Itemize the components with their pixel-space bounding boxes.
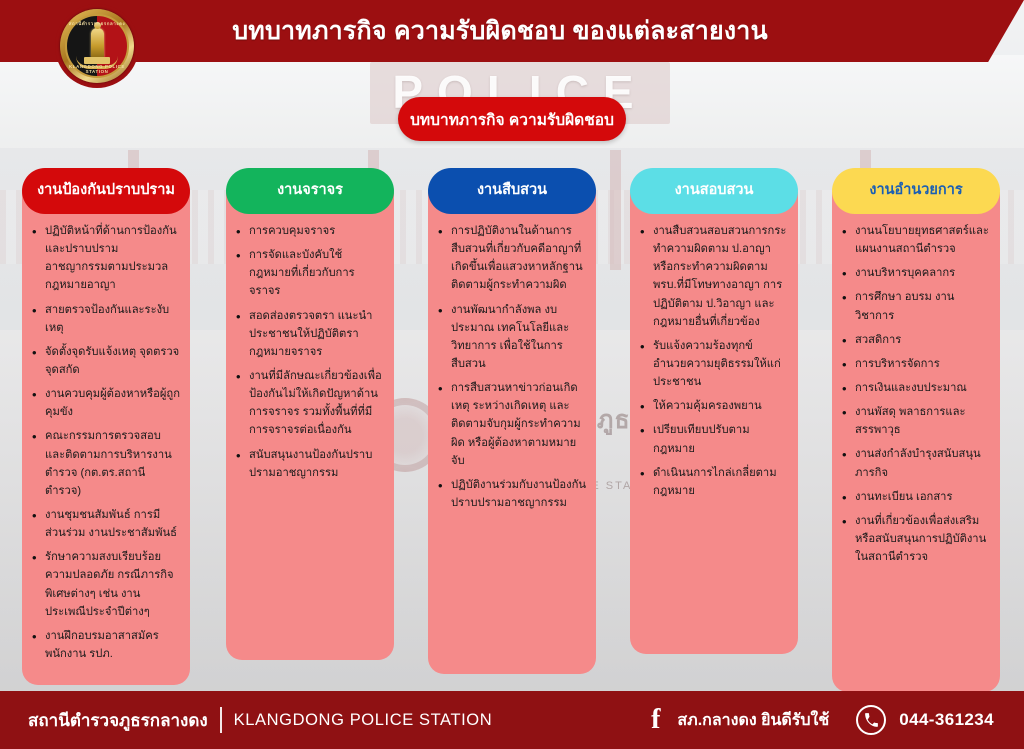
badge-statue-icon [91,28,104,58]
column-header-inquiry: งานสอบสวน [630,168,798,214]
list-item: งานพัฒนากำลังพล งบประมาณ เทคโนโลยีและวิท… [436,301,586,374]
list-item: งานนโยบายยุทธศาสตร์และแผนงานสถานีตำรวจ [840,222,990,258]
list-item: งานชุมชนสัมพันธ์ การมีส่วนร่วม งานประชาส… [30,506,180,542]
list-item: เปรียบเทียบปรับตามกฎหมาย [638,421,788,457]
list-item: การจัดและบังคับใช้กฎหมายที่เกี่ยวกับการจ… [234,246,384,300]
list-item: คณะกรรมการตรวจสอบและติดตามการบริหารงานตำ… [30,427,180,500]
list-item: สายตรวจป้องกันและระงับเหตุ [30,301,180,337]
list-item: สวสดิการ [840,331,990,349]
center-pill-label: บทบาทภารกิจ ความรับผิดชอบ [398,97,626,141]
facebook-icon[interactable]: f [647,706,664,734]
list-item: งานฝึกอบรมอาสาสมัคร พนักงาน รปภ. [30,627,180,663]
footer-left-group: สถานีตำรวจภูธรกลางดง KLANGDONG POLICE ST… [28,707,492,734]
list-item: ปฏิบัติงานร่วมกับงานป้องกันปราบปรามอาชญา… [436,476,586,512]
column-header-administration: งานอำนวยการ [832,168,1000,214]
list-item: การปฏิบัติงานในด้านการสืบสวนที่เกี่ยวกับ… [436,222,586,295]
list-item: รับแจ้งความร้องทุกข์ อำนวยความยุติธรรมให… [638,337,788,391]
list-item: งานควบคุมผู้ต้องหาหรือผู้ถูกคุมขัง [30,385,180,421]
page-title: บทบาทภารกิจ ความรับผิดชอบ ของแต่ละสายงาน [0,0,1000,62]
column-list-administration: งานนโยบายยุทธศาสตร์และแผนงานสถานีตำรวจ ง… [840,222,990,566]
column-prevention: งานป้องกันปราบปราม ปฏิบัติหน้าที่ด้านการ… [22,168,190,685]
list-item: การเงินและงบประมาณ [840,379,990,397]
footer-phone-number[interactable]: 044-361234 [899,710,994,730]
column-body-inquiry: งานสืบสวนสอบสวนการกระทำความผิดตาม ป.อาญา… [630,192,798,654]
footer-right-group: f สภ.กลางดง ยินดีรับใช้ 044-361234 [647,705,994,735]
footer-bar: สถานีตำรวจภูธรกลางดง KLANGDONG POLICE ST… [0,691,1024,749]
list-item: ดำเนินนการไกล่เกลี่ยตามกฎหมาย [638,464,788,500]
column-investigation: งานสืบสวน การปฏิบัติงานในด้านการสืบสวนที… [428,168,596,674]
column-body-traffic: การควบคุมจราจร การจัดและบังคับใช้กฎหมายท… [226,192,394,660]
column-body-investigation: การปฏิบัติงานในด้านการสืบสวนที่เกี่ยวกับ… [428,192,596,674]
list-item: งานทะเบียน เอกสาร [840,488,990,506]
column-header-traffic: งานจราจร [226,168,394,214]
list-item: รักษาความสงบเรียบร้อยความปลอดภัย กรณีภาร… [30,548,180,621]
column-header-prevention: งานป้องกันปราบปราม [22,168,190,214]
footer-station-name-th: สถานีตำรวจภูธรกลางดง [28,707,208,734]
badge-bottom-text: KLANGDONG POLICE STATION [67,64,127,74]
footer-divider [220,707,222,733]
list-item: ปฏิบัติหน้าที่ด้านการป้องกันและปราบปรามอ… [30,222,180,295]
list-item: ให้ความคุ้มครองพยาน [638,397,788,415]
footer-facebook-label[interactable]: สภ.กลางดง ยินดีรับใช้ [677,708,829,733]
column-traffic: งานจราจร การควบคุมจราจร การจัดและบังคับใ… [226,168,394,660]
list-item: งานบริหารบุคคลากร [840,264,990,282]
list-item: งานพัสดุ พลาธการและสรรพาวุธ [840,403,990,439]
column-list-traffic: การควบคุมจราจร การจัดและบังคับใช้กฎหมายท… [234,222,384,482]
column-body-prevention: ปฏิบัติหน้าที่ด้านการป้องกันและปราบปรามอ… [22,192,190,685]
list-item: สอดส่องตรวจตรา แนะนำประชาชนให้ปฏิบัติตรา… [234,307,384,361]
badge-outer-ring: สถานีตำรวจภูธรกลางดง KLANGDONG POLICE ST… [60,9,134,83]
list-item: งานส่งกำลังบำรุงสนับสนุนภารกิจ [840,445,990,481]
column-list-investigation: การปฏิบัติงานในด้านการสืบสวนที่เกี่ยวกับ… [436,222,586,512]
list-item: งานที่เกี่ยวข้องเพื่อส่งเสริมหรือสนับสนุ… [840,512,990,566]
phone-icon[interactable] [856,705,886,735]
list-item: งานที่มีลักษณะเกี่ยวข้องเพื่อป้องกันไม่ใ… [234,367,384,440]
column-administration: งานอำนวยการ งานนโยบายยุทธศาสตร์และแผนงาน… [832,168,1000,692]
badge-inner-disc: สถานีตำรวจภูธรกลางดง KLANGDONG POLICE ST… [65,14,129,78]
police-badge-icon: สถานีตำรวจภูธรกลางดง KLANGDONG POLICE ST… [55,4,139,88]
list-item: สนับสนุนงานป้องกันปราบปรามอาชญากรรม [234,446,384,482]
column-list-inquiry: งานสืบสวนสอบสวนการกระทำความผิดตาม ป.อาญา… [638,222,788,500]
column-inquiry: งานสอบสวน งานสืบสวนสอบสวนการกระทำความผิด… [630,168,798,654]
column-body-administration: งานนโยบายยุทธศาสตร์และแผนงานสถานีตำรวจ ง… [832,192,1000,692]
list-item: การควบคุมจราจร [234,222,384,240]
footer-station-name-en: KLANGDONG POLICE STATION [234,711,493,730]
list-item: จัดตั้งจุดรับแจ้งเหตุ จุดตรวจ จุดสกัด [30,343,180,379]
list-item: การศึกษา อบรม งานวิชาการ [840,288,990,324]
list-item: การบริหารจัดการ [840,355,990,373]
header-bar: บทบาทภารกิจ ความรับผิดชอบ ของแต่ละสายงาน [0,0,1024,62]
column-list-prevention: ปฏิบัติหน้าที่ด้านการป้องกันและปราบปรามอ… [30,222,180,663]
column-header-investigation: งานสืบสวน [428,168,596,214]
list-item: งานสืบสวนสอบสวนการกระทำความผิดตาม ป.อาญา… [638,222,788,331]
list-item: การสืบสวนหาข่าวก่อนเกิดเหตุ ระหว่างเกิดเ… [436,379,586,470]
